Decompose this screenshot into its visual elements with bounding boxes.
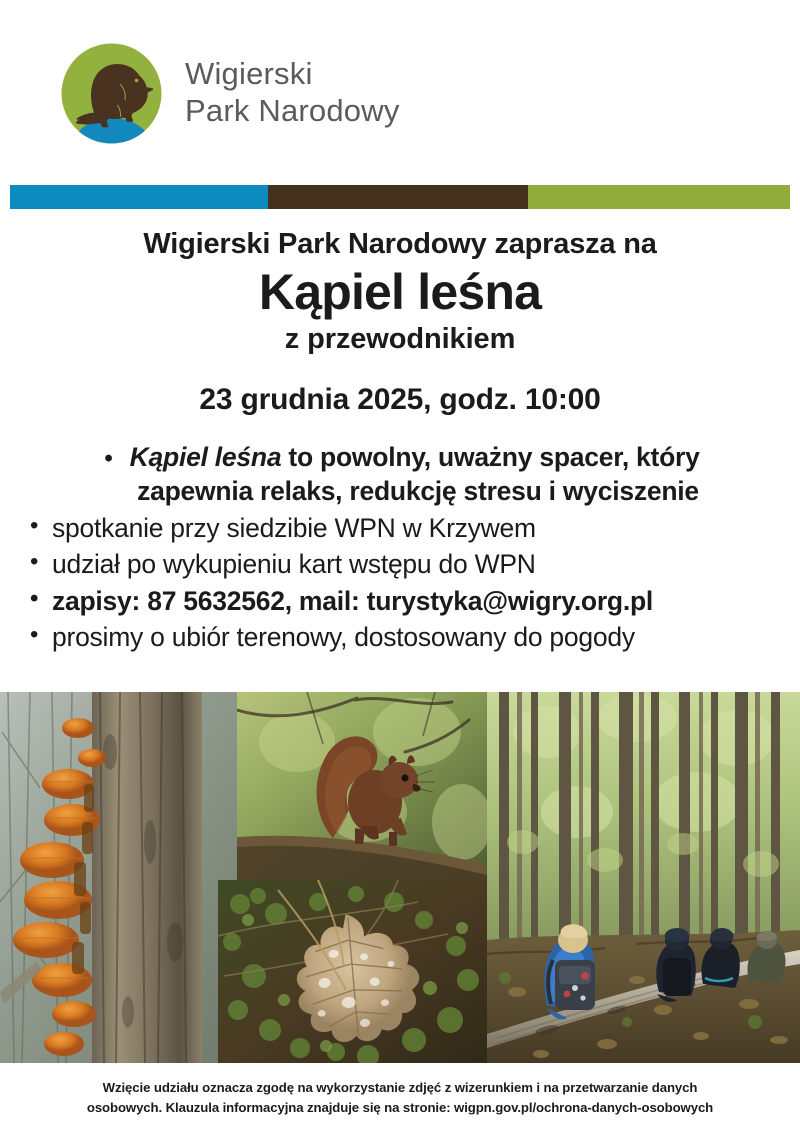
color-bar-segment-brown bbox=[268, 185, 528, 209]
invitation-line: Wigierski Park Narodowy zaprasza na bbox=[0, 228, 800, 260]
logo-line-2: Park Narodowy bbox=[185, 93, 400, 130]
bullet-text-line2: zapewnia relaks, redukcję stresu i wycis… bbox=[26, 474, 778, 508]
photo-mushrooms bbox=[0, 692, 237, 1063]
subtitle-line: z przewodnikiem bbox=[0, 323, 800, 357]
color-bar-segment-green bbox=[528, 185, 790, 209]
list-item-meeting-point: spotkanie przy siedzibie WPN w Krzywem bbox=[26, 511, 778, 545]
photo-collage bbox=[0, 692, 800, 1063]
footer-line-2: osobowych. Klauzula informacyjna znajduj… bbox=[0, 1098, 800, 1118]
brand-color-bar bbox=[10, 185, 790, 209]
page-title: Kąpiel leśna bbox=[0, 264, 800, 321]
photo-squirrel bbox=[237, 692, 487, 880]
event-date: 23 grudnia 2025, godz. 10:00 bbox=[0, 383, 800, 418]
consent-footer: Wzięcie udziału oznacza zgodę na wykorzy… bbox=[0, 1078, 800, 1117]
photo-oak-leaf bbox=[218, 880, 487, 1063]
list-item-signup-contact: zapisy: 87 5632562, mail: turystyka@wigr… bbox=[26, 584, 778, 618]
park-logo: Wigierski Park Narodowy bbox=[60, 33, 480, 153]
footer-line-1: Wzięcie udziału oznacza zgodę na wykorzy… bbox=[0, 1078, 800, 1098]
details-list: Kąpiel leśna to powolny, uważny spacer, … bbox=[26, 440, 778, 657]
list-item-tickets: udział po wykupieniu kart wstępu do WPN bbox=[26, 547, 778, 581]
list-item-clothing: prosimy o ubiór terenowy, dostosowany do… bbox=[26, 620, 778, 654]
logo-line-1: Wigierski bbox=[185, 56, 400, 93]
bullet-emphasis: Kąpiel leśna bbox=[130, 442, 282, 472]
color-bar-segment-blue bbox=[10, 185, 268, 209]
list-item-description: Kąpiel leśna to powolny, uważny spacer, … bbox=[26, 440, 778, 509]
bullet-text-rest: to powolny, uważny spacer, który bbox=[281, 442, 699, 472]
photo-forest-group bbox=[487, 692, 800, 1063]
beaver-in-circle-logo bbox=[60, 42, 163, 145]
headline-block: Wigierski Park Narodowy zaprasza na Kąpi… bbox=[0, 228, 800, 418]
logo-wordmark: Wigierski Park Narodowy bbox=[185, 56, 400, 129]
